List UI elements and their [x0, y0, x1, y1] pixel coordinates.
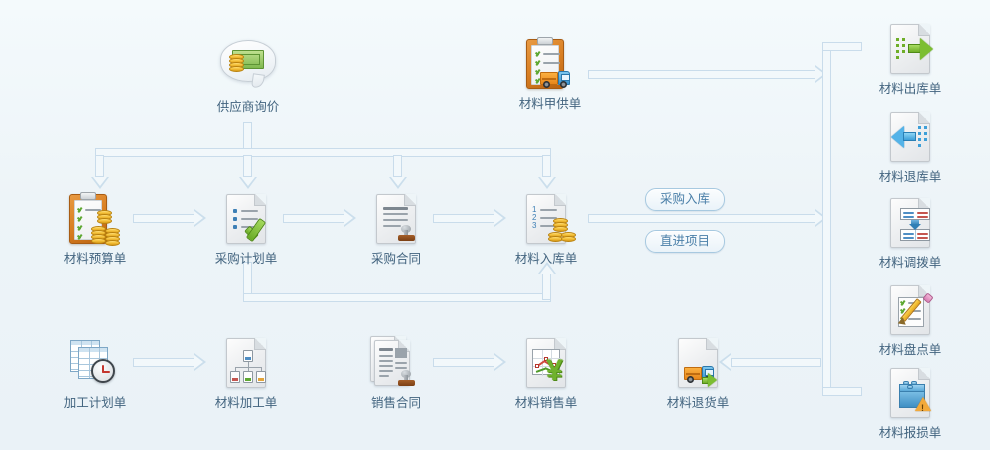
- money-bubble-icon: [220, 40, 276, 96]
- document-truck-return-icon: [670, 336, 726, 392]
- pill-purchase-inbound[interactable]: 采购入库: [645, 188, 725, 211]
- arrowhead-fanout-inbound: [538, 177, 556, 189]
- node-material-inbound[interactable]: 1 2 3 材料入库单: [498, 192, 594, 266]
- document-check-pencil-icon: [882, 283, 938, 339]
- document-box-warning-icon: !: [882, 366, 938, 422]
- connector-right-bracket-vertical: [822, 42, 831, 396]
- arrowhead-fanout-budget: [91, 177, 109, 189]
- node-label: 材料入库单: [498, 252, 594, 266]
- node-purchase-plan[interactable]: 采购计划单: [198, 192, 294, 266]
- pill-direct-to-project[interactable]: 直进项目: [645, 230, 725, 253]
- connector-right-bracket-bottom: [822, 387, 862, 396]
- clipboard-coins-icon: [67, 192, 123, 248]
- node-material-return[interactable]: 材料退货单: [650, 336, 746, 410]
- chart-yen-icon: ¥: [518, 336, 574, 392]
- node-material-process[interactable]: 材料加工单: [198, 336, 294, 410]
- document-checklist-check-icon: [218, 192, 274, 248]
- return-arrow-head: [708, 373, 717, 387]
- document-tree-icon: [218, 336, 274, 392]
- arrowhead-fanout-contract: [389, 177, 407, 189]
- node-label: 材料甲供单: [502, 97, 598, 111]
- node-material-budget[interactable]: 材料预算单: [47, 192, 143, 266]
- node-label: 供应商询价: [200, 100, 296, 114]
- node-material-stocktake[interactable]: 材料盘点单: [862, 283, 958, 357]
- connector-fanout-leg-budget: [95, 155, 104, 177]
- node-label: 材料销售单: [498, 396, 594, 410]
- node-label: 材料调拨单: [862, 256, 958, 270]
- node-label: 材料出库单: [862, 82, 958, 96]
- node-owner-supply[interactable]: 材料甲供单: [502, 37, 598, 111]
- document-stamp-icon: [368, 192, 424, 248]
- node-label: 采购计划单: [198, 252, 294, 266]
- node-material-outbound[interactable]: 材料出库单: [862, 22, 958, 96]
- node-material-damage[interactable]: ! 材料报损单: [862, 366, 958, 440]
- connector-inbound-right: [588, 214, 816, 223]
- node-label: 材料退库单: [862, 170, 958, 184]
- node-label: 材料预算单: [47, 252, 143, 266]
- connector-fanout-leg-contract: [393, 155, 402, 177]
- node-label: 材料退货单: [650, 396, 746, 410]
- node-purchase-contract[interactable]: 采购合同: [348, 192, 444, 266]
- node-process-plan[interactable]: 加工计划单: [47, 336, 143, 410]
- document-blue-left-arrow-icon: [882, 110, 938, 166]
- node-label: 销售合同: [348, 396, 444, 410]
- node-label: 加工计划单: [47, 396, 143, 410]
- node-supplier-inquiry[interactable]: 供应商询价: [200, 40, 296, 114]
- node-material-transfer[interactable]: 材料调拨单: [862, 196, 958, 270]
- node-material-sales[interactable]: ¥ 材料销售单: [498, 336, 594, 410]
- node-label: 材料盘点单: [862, 343, 958, 357]
- node-label: 采购合同: [348, 252, 444, 266]
- connector-owner-supply-right: [588, 70, 816, 79]
- material-flow-diagram: 采购入库 直进项目 供应商询价: [0, 0, 990, 450]
- connector-fanout-leg-inbound: [542, 155, 551, 177]
- document-green-right-arrow-icon: [882, 22, 938, 78]
- arrowhead-fanout-plan: [239, 177, 257, 189]
- connector-loop-right-leg: [542, 272, 551, 300]
- connector-fanout-leg-plan: [243, 155, 252, 177]
- connector-right-bracket-top: [822, 42, 862, 51]
- documents-stamp-icon: [368, 336, 424, 392]
- node-material-backstock[interactable]: 材料退库单: [862, 110, 958, 184]
- clipboard-truck-icon: [522, 37, 578, 93]
- connector-inquiry-fanout-bar: [95, 148, 551, 157]
- document-numbered-coins-icon: 1 2 3: [518, 192, 574, 248]
- spreadsheet-clock-icon: [67, 336, 123, 392]
- node-sales-contract[interactable]: 销售合同: [348, 336, 444, 410]
- node-label: 材料加工单: [198, 396, 294, 410]
- connector-loop-bottom: [243, 293, 551, 302]
- document-transfer-tables-icon: [882, 196, 938, 252]
- node-label: 材料报损单: [862, 426, 958, 440]
